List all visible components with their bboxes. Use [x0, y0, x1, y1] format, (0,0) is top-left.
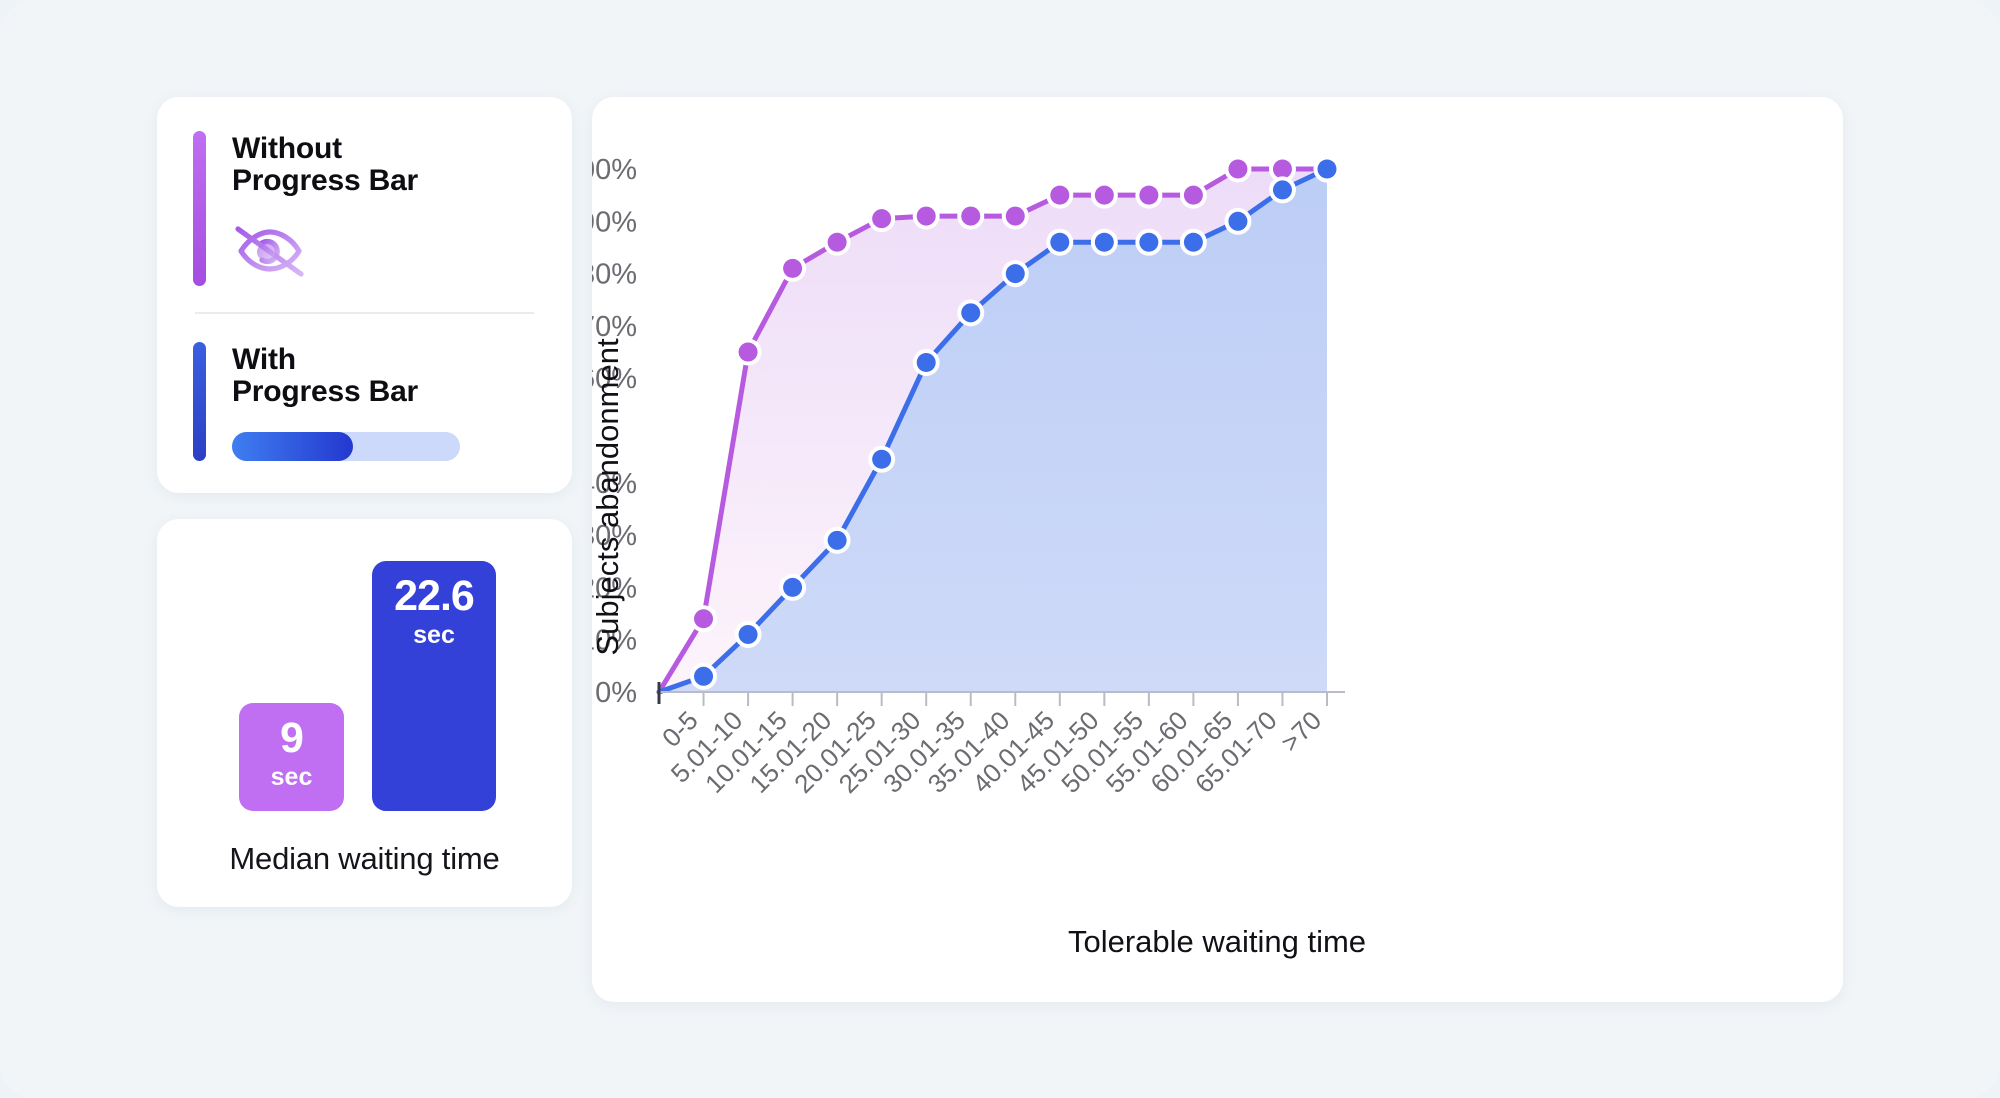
data-point-without-progress-bar[interactable]: [690, 605, 717, 632]
data-point: [1006, 207, 1025, 226]
data-point-without-progress-bar[interactable]: [1224, 156, 1251, 183]
data-point-without-progress-bar[interactable]: [957, 203, 984, 230]
data-point: [1228, 160, 1247, 179]
progress-bar-fill: [232, 432, 353, 461]
data-point: [828, 233, 847, 252]
data-point: [1273, 160, 1292, 179]
data-point: [1273, 180, 1292, 199]
abandonment-line-chart: 100%90%80%70%60%40%30%20%10%0% 0-55.01-1…: [592, 97, 1843, 1002]
page-root: Without Progress Bar: [0, 0, 2000, 1098]
data-point-with-progress-bar[interactable]: [735, 621, 762, 648]
median-value-with-progress-bar: 22.6: [372, 575, 496, 618]
data-point: [1095, 233, 1114, 252]
data-point: [694, 609, 713, 628]
legend-color-swatch-blue: [193, 342, 206, 461]
x-axis-title: Tolerable waiting time: [1068, 924, 1366, 959]
data-point: [694, 667, 713, 686]
x-axis-tick-label: >70: [1275, 705, 1327, 757]
data-point: [961, 207, 980, 226]
y-axis-tick-label: 70%: [592, 311, 637, 343]
data-point: [917, 207, 936, 226]
data-point: [1050, 233, 1069, 252]
data-point: [917, 353, 936, 372]
data-point-without-progress-bar[interactable]: [868, 205, 895, 232]
median-unit-without-progress-bar: sec: [239, 765, 344, 790]
data-point-without-progress-bar[interactable]: [913, 203, 940, 230]
data-point-with-progress-bar[interactable]: [913, 349, 940, 376]
y-axis-tick-label: 90%: [592, 206, 637, 238]
legend-color-swatch-purple: [193, 131, 206, 286]
median-bar-with-progress-bar: 22.6 sec: [372, 561, 496, 811]
data-point-with-progress-bar[interactable]: [690, 663, 717, 690]
data-point: [1318, 160, 1337, 179]
data-point-with-progress-bar[interactable]: [1269, 176, 1296, 203]
data-point-without-progress-bar[interactable]: [1091, 182, 1118, 209]
data-point: [1139, 233, 1158, 252]
median-bar-without-progress-bar: 9 sec: [239, 703, 344, 811]
data-point-with-progress-bar[interactable]: [824, 527, 851, 554]
data-point: [783, 259, 802, 278]
data-point-with-progress-bar[interactable]: [1002, 260, 1029, 287]
chart-card: 100%90%80%70%60%40%30%20%10%0% 0-55.01-1…: [592, 97, 1843, 1002]
legend-label-without-progress-bar: Without Progress Bar: [232, 133, 536, 197]
data-point: [872, 209, 891, 228]
median-waiting-time-card: 9 sec 22.6 sec Median waiting time: [157, 519, 572, 907]
data-point-without-progress-bar[interactable]: [1135, 182, 1162, 209]
data-point-without-progress-bar[interactable]: [1046, 182, 1073, 209]
data-point: [1184, 233, 1203, 252]
y-axis-tick-label: 0%: [595, 677, 637, 709]
y-axis-tick-label: 100%: [592, 154, 637, 186]
legend-divider: [195, 312, 534, 314]
data-point: [1228, 212, 1247, 231]
data-point-with-progress-bar[interactable]: [1135, 229, 1162, 256]
x-axis-ticks: 0-55.01-1010.01-1515.01-2020.01-2525.01-…: [656, 682, 1345, 799]
legend-item-without-progress-bar[interactable]: Without Progress Bar: [193, 131, 536, 286]
data-point: [1095, 186, 1114, 205]
data-point: [1139, 186, 1158, 205]
median-unit-with-progress-bar: sec: [372, 623, 496, 648]
data-point-with-progress-bar[interactable]: [868, 446, 895, 473]
median-bar-group: 9 sec 22.6 sec: [157, 553, 572, 811]
data-point: [783, 578, 802, 597]
plot-area: [659, 156, 1341, 693]
data-point-with-progress-bar[interactable]: [1224, 208, 1251, 235]
data-point-without-progress-bar[interactable]: [824, 229, 851, 256]
data-point-without-progress-bar[interactable]: [735, 339, 762, 366]
data-point-with-progress-bar[interactable]: [957, 299, 984, 326]
data-point-with-progress-bar[interactable]: [1046, 229, 1073, 256]
data-point: [961, 303, 980, 322]
data-point-with-progress-bar[interactable]: [1314, 156, 1341, 183]
median-caption: Median waiting time: [157, 841, 572, 877]
data-point-with-progress-bar[interactable]: [779, 574, 806, 601]
eye-off-icon: [232, 221, 536, 286]
data-point: [1006, 264, 1025, 283]
data-point: [872, 450, 891, 469]
data-point-without-progress-bar[interactable]: [1180, 182, 1207, 209]
median-value-without-progress-bar: 9: [239, 717, 344, 760]
data-point-without-progress-bar[interactable]: [779, 255, 806, 282]
data-point: [1184, 186, 1203, 205]
legend-item-with-progress-bar[interactable]: With Progress Bar: [193, 342, 536, 461]
data-point: [1050, 186, 1069, 205]
data-point: [739, 625, 758, 644]
data-point-without-progress-bar[interactable]: [1002, 203, 1029, 230]
y-axis-tick-label: 80%: [592, 259, 637, 291]
data-point-with-progress-bar[interactable]: [1091, 229, 1118, 256]
legend-card: Without Progress Bar: [157, 97, 572, 493]
progress-bar-icon: [232, 432, 460, 461]
left-column: Without Progress Bar: [157, 97, 572, 907]
data-point-with-progress-bar[interactable]: [1180, 229, 1207, 256]
y-axis-title: Subjects abandonment: [592, 338, 625, 656]
data-point: [739, 343, 758, 362]
legend-label-with-progress-bar: With Progress Bar: [232, 344, 536, 408]
data-point: [828, 531, 847, 550]
